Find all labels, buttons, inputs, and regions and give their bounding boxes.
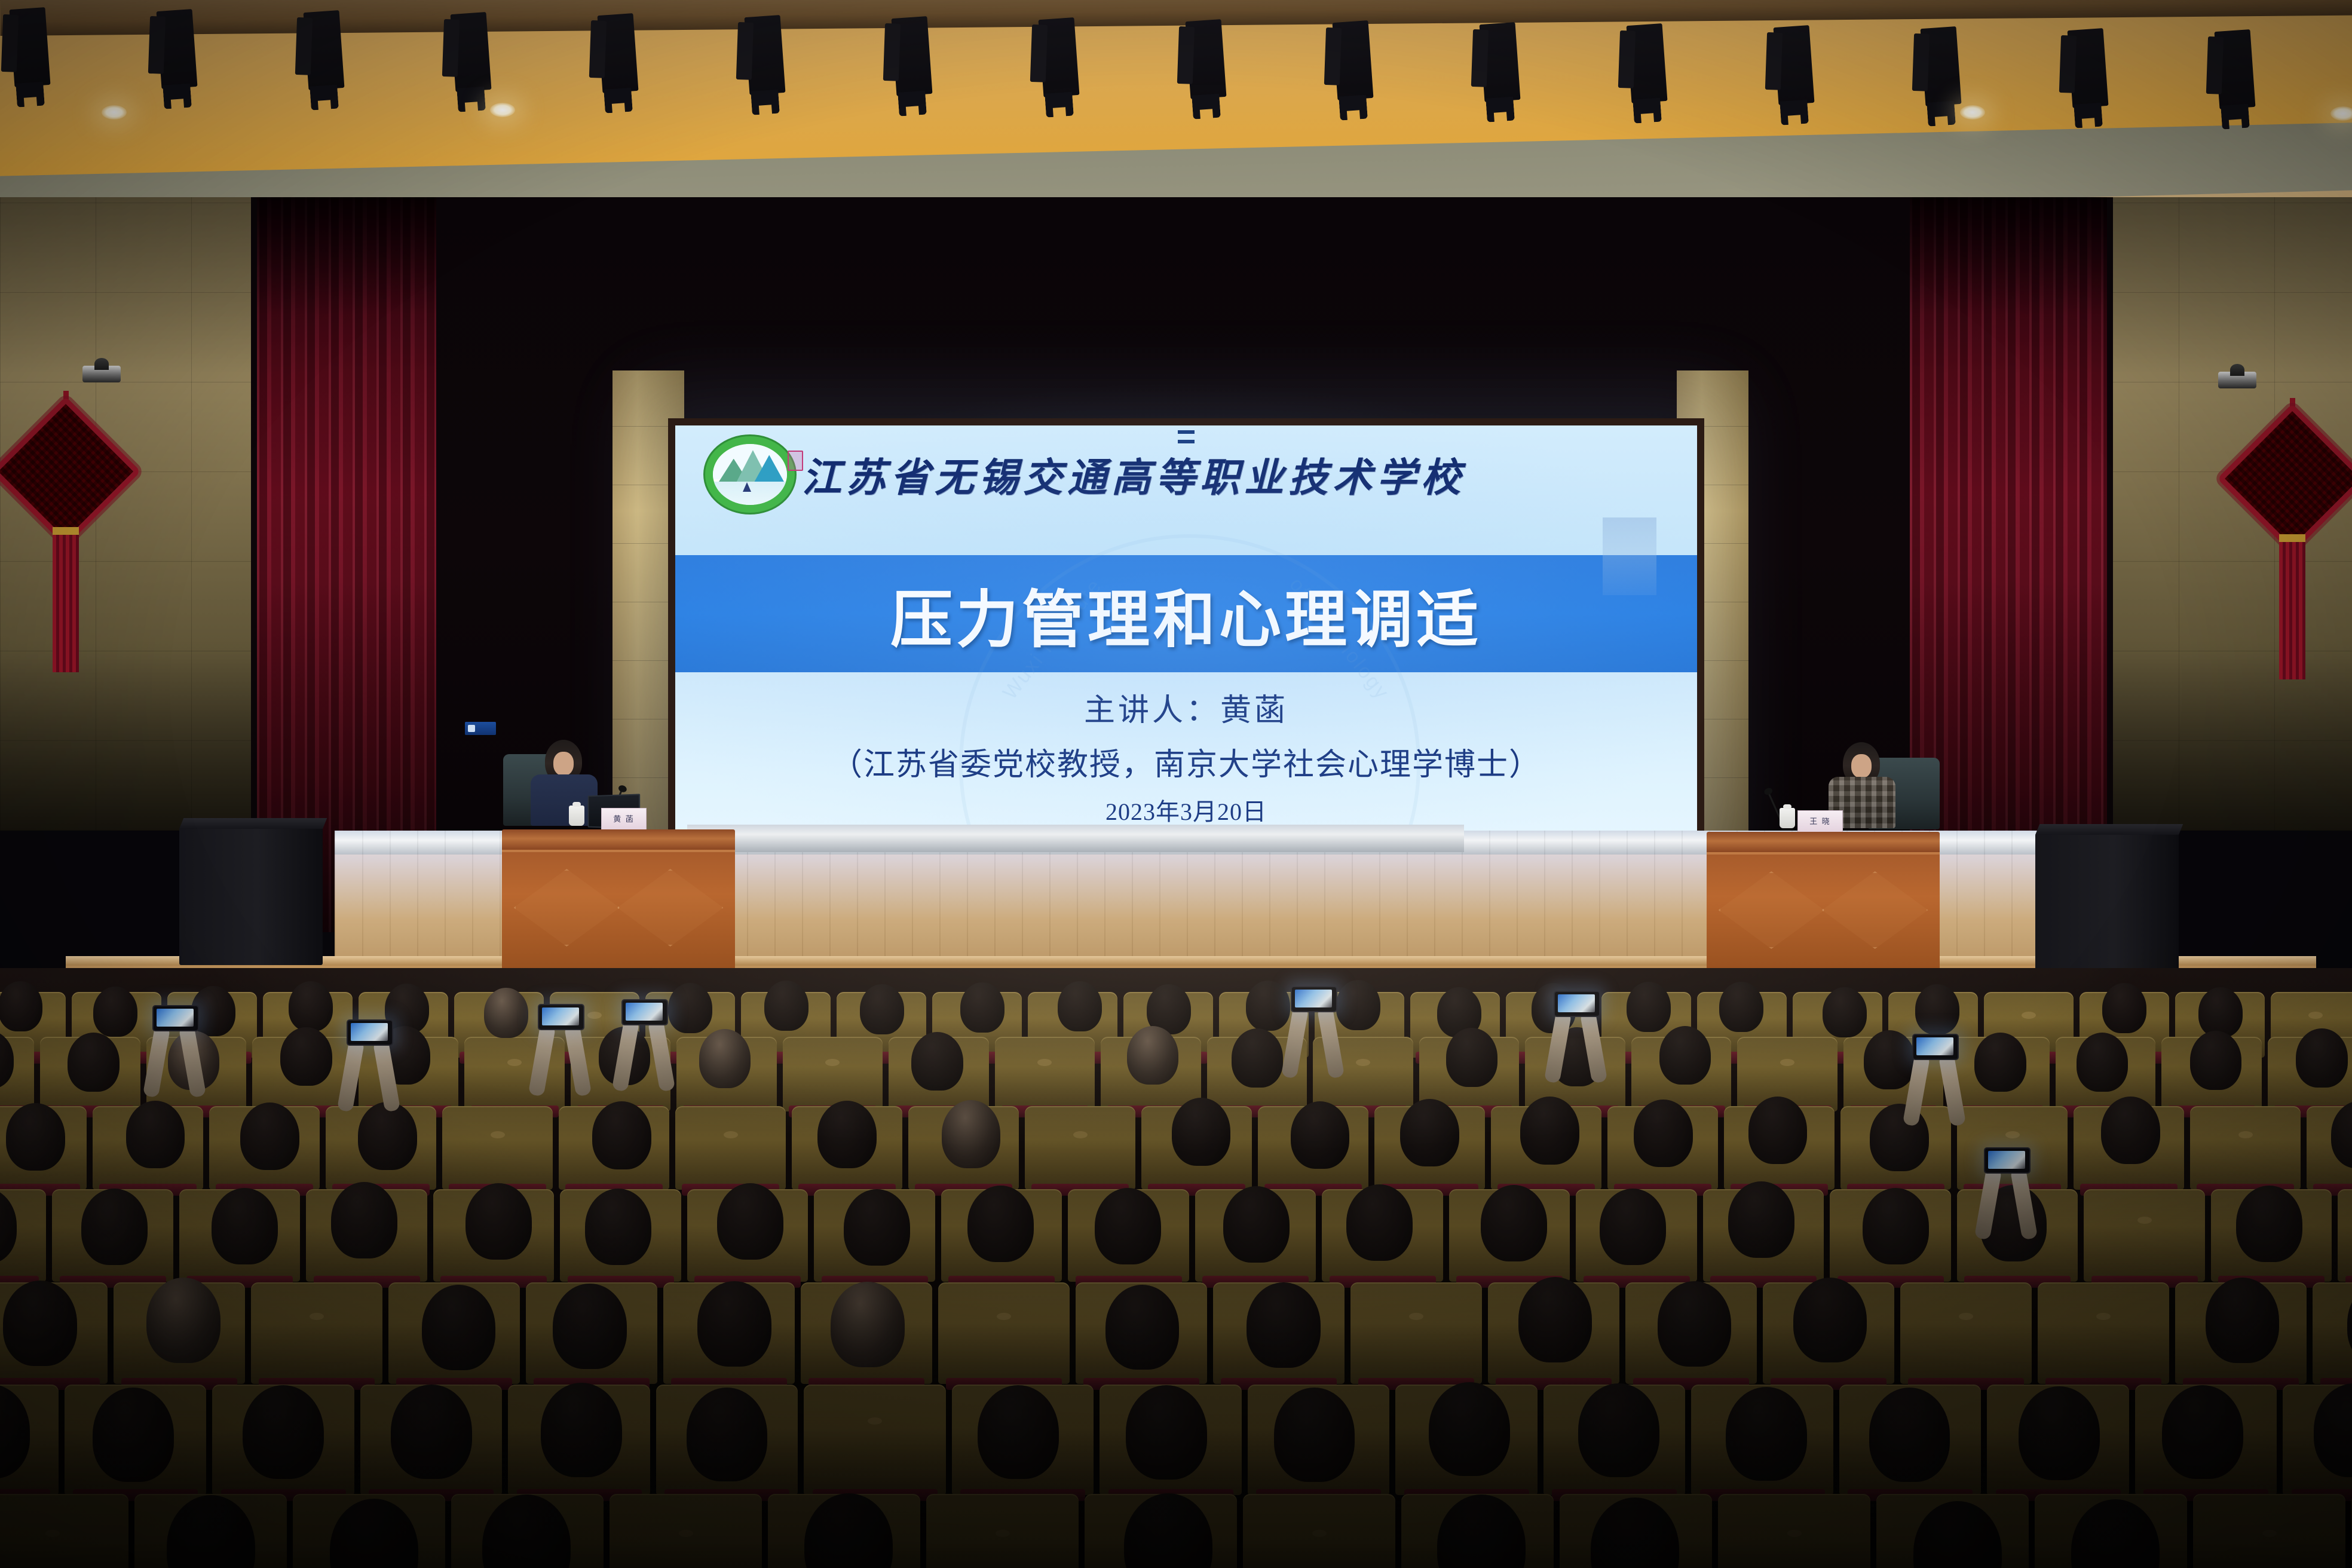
stage-lamp	[598, 13, 639, 93]
audience-member-head	[2019, 1386, 2100, 1480]
projection-screen: Wuxi Institute of Technology of communic…	[675, 425, 1697, 844]
auditorium-seat[interactable]	[804, 1385, 946, 1495]
phone-screen	[1558, 994, 1595, 1012]
stage-apron-edge	[66, 956, 2316, 966]
seat-emblem-icon	[996, 1530, 1010, 1537]
speaker-left	[545, 740, 582, 783]
phone-screen	[1295, 990, 1332, 1007]
logo-sailboat-icon	[743, 482, 751, 492]
audience-member-head	[717, 1183, 783, 1260]
seat-emblem-icon	[2308, 1012, 2323, 1019]
audience-member-head	[422, 1285, 495, 1370]
stage-lamp	[1480, 22, 1521, 102]
audience-member-head	[1520, 1097, 1579, 1164]
audience-member-head	[126, 1101, 185, 1168]
audience-member-head	[1105, 1285, 1179, 1370]
ceiling-downlight	[102, 105, 127, 120]
audience-member-head	[212, 1188, 278, 1264]
audience-member-head	[289, 981, 333, 1031]
phone-screen	[1916, 1037, 1953, 1055]
subwoofer-right	[2035, 834, 2179, 971]
phone-screen	[542, 1007, 579, 1025]
auditorium-seat[interactable]	[783, 1037, 883, 1111]
audience-member-head	[1659, 1026, 1711, 1085]
audience-member-head	[240, 1102, 299, 1170]
desk-right-top	[1707, 832, 1940, 852]
water-cup-left	[569, 806, 584, 826]
auditorium-seat[interactable]	[2190, 1106, 2301, 1190]
audience-member-head	[697, 1281, 771, 1367]
audience-member-head	[391, 1385, 472, 1478]
audience-phone[interactable]	[1554, 991, 1600, 1017]
speaker-right-face	[1851, 754, 1872, 778]
stage-lamp	[1186, 19, 1227, 99]
audience-member-head	[1346, 1184, 1413, 1261]
seat-emblem-icon	[868, 1417, 882, 1425]
stage-lamp	[892, 16, 933, 96]
audience-member-head	[2162, 1385, 2243, 1479]
audience-member-head	[1726, 1387, 1807, 1481]
audience-area	[0, 968, 2352, 1568]
audience-member-head	[1728, 1181, 1794, 1258]
seat-emblem-icon	[2262, 1530, 2277, 1537]
seat-emblem-icon	[1787, 1530, 1802, 1537]
audience-member-head	[942, 1100, 1001, 1168]
auditorium-seat[interactable]	[926, 1494, 1079, 1568]
seat-emblem-icon	[2022, 1012, 2036, 1019]
audience-member-head	[1126, 1385, 1207, 1479]
stage-lamp	[1774, 25, 1815, 105]
auditorium-seat[interactable]	[938, 1282, 1070, 1384]
audience-member-head	[585, 1189, 651, 1265]
audience-member-head	[1247, 1282, 1320, 1368]
audience-member-head	[2077, 1033, 2128, 1092]
chinese-knot-left	[6, 418, 125, 525]
chinese-knot-right	[2232, 425, 2352, 532]
slide-decor-mark-top	[1178, 430, 1195, 434]
seat-emblem-icon	[825, 1059, 840, 1066]
auditorium-seat[interactable]	[251, 1282, 382, 1384]
audience-member-head	[68, 1033, 119, 1092]
stage-lamp	[451, 12, 492, 92]
audience-member-head	[81, 1189, 148, 1265]
phone-screen	[157, 1009, 194, 1027]
desk-left-body	[502, 850, 735, 972]
audience-member-head	[146, 1278, 220, 1363]
audience-member-head	[1429, 1382, 1510, 1476]
audience-member-head	[1864, 1030, 1915, 1089]
audience-member-head	[2102, 983, 2146, 1033]
exit-sign	[465, 722, 496, 735]
audience-member-head	[1578, 1383, 1659, 1477]
seat-emblem-icon	[491, 1131, 505, 1138]
stage-lamp	[1627, 23, 1668, 103]
audience-member-head	[2236, 1186, 2302, 1262]
seat-emblem-icon	[1409, 1313, 1423, 1320]
audience-member-head	[1863, 1188, 1929, 1264]
audience-member-head	[960, 982, 1004, 1033]
phone-screen	[1988, 1151, 2025, 1169]
audience-member-head	[1600, 1189, 1666, 1265]
stage-lamp	[1039, 17, 1080, 97]
audience-member-head	[93, 987, 137, 1037]
subwoofer-left	[179, 828, 323, 965]
audience-member-head	[1823, 987, 1867, 1037]
audience-member-head	[2101, 1097, 2160, 1164]
auditorium-seat[interactable]	[1900, 1282, 2032, 1384]
slide-presenter: 主讲人：黄菡	[675, 685, 1697, 730]
audience-member-head	[817, 1101, 877, 1168]
desk-left	[502, 829, 735, 972]
audience-member-head	[1719, 982, 1763, 1032]
stage-lamp	[2068, 28, 2109, 108]
desk-left-panel-1	[514, 869, 620, 947]
seat-emblem-icon	[2137, 1217, 2152, 1224]
wall-light-fixture-right	[2218, 372, 2256, 388]
seat-emblem-icon	[587, 1012, 602, 1019]
audience-member-head	[243, 1385, 324, 1479]
seat-emblem-icon	[724, 1131, 738, 1138]
slide-school-name: 江苏省无锡交通高等职业技术学校	[802, 446, 1625, 503]
audience-member-head	[1336, 980, 1380, 1030]
audience-member-head	[1748, 1097, 1808, 1164]
audience-member-head	[1974, 1033, 2026, 1092]
auditorium-seat[interactable]	[675, 1106, 786, 1190]
phone-screen	[626, 1003, 663, 1021]
audience-member-head	[978, 1385, 1059, 1479]
ceiling-downlight	[2330, 106, 2352, 121]
knot-tassel-left	[53, 527, 79, 672]
speaker-right	[1843, 742, 1880, 785]
knot-body-left	[0, 396, 141, 547]
seat-emblem-icon	[2005, 1131, 2020, 1138]
school-logo	[705, 436, 795, 513]
water-cup-right	[1780, 808, 1795, 828]
audience-phone[interactable]	[538, 1004, 584, 1030]
audience-member-head	[668, 983, 712, 1033]
audience-phone[interactable]	[621, 999, 668, 1025]
auditorium-seat[interactable]	[2084, 1189, 2205, 1282]
desk-right-panel-2	[1822, 871, 1928, 949]
seat-emblem-icon	[45, 1530, 60, 1537]
audience-member-head	[331, 1182, 397, 1258]
desk-left-top	[502, 829, 735, 850]
slide-main-title: 压力管理和心理调适	[675, 555, 1697, 672]
name-card-left: 黄 菡	[601, 808, 647, 831]
seat-emblem-icon	[1073, 1131, 1088, 1138]
auditorium-seat[interactable]	[1718, 1494, 1870, 1568]
name-card-left-text: 黄 菡	[602, 808, 646, 830]
audience-member-head	[465, 1183, 532, 1260]
audience-member-head	[967, 1186, 1034, 1262]
desk-left-panel-2	[617, 869, 724, 947]
seat-emblem-icon	[679, 1530, 693, 1537]
seat-emblem-icon	[310, 1313, 324, 1320]
seat-emblem-icon	[507, 1059, 522, 1066]
audience-member-head	[2206, 1278, 2279, 1363]
audience-member-head	[699, 1029, 751, 1088]
audience-member-head	[541, 1383, 622, 1477]
audience-member-head	[3, 1281, 76, 1366]
ceiling-downlight	[1960, 105, 1985, 120]
seat-emblem-icon	[1037, 1059, 1052, 1066]
audience-member-head	[2296, 1028, 2347, 1088]
audience-member-head	[1172, 1098, 1231, 1165]
audience-phone[interactable]	[1912, 1034, 1959, 1060]
desk-right	[1707, 832, 1940, 974]
stage-back-riser	[687, 825, 1464, 852]
audience-member-head	[592, 1101, 651, 1169]
auditorium-seat[interactable]	[610, 1494, 762, 1568]
auditorium-seat[interactable]	[2313, 1282, 2352, 1384]
audience-member-head	[1869, 1388, 1950, 1481]
slide-affiliation: （江苏省委党校教授，南京大学社会心理学博士）	[675, 739, 1697, 784]
audience-phone[interactable]	[152, 1005, 199, 1031]
audience-phone[interactable]	[347, 1019, 393, 1046]
wall-light-fixture-left	[82, 366, 121, 382]
ceiling-downlight	[490, 103, 515, 117]
audience-member-head	[1481, 1185, 1547, 1261]
audience-member-head	[1518, 1277, 1592, 1362]
audience-member-head	[2198, 987, 2243, 1037]
audience-member-head	[1274, 1388, 1355, 1481]
auditorium-seat[interactable]	[2193, 1494, 2345, 1568]
audience-member-head	[1658, 1281, 1731, 1367]
audience-member-head	[1246, 981, 1290, 1031]
auditorium-seat[interactable]	[1025, 1106, 1135, 1190]
audience-phone[interactable]	[1984, 1147, 2031, 1174]
seat-emblem-icon	[997, 1313, 1011, 1320]
audience-member-head	[1127, 1026, 1178, 1085]
seat-emblem-icon	[1356, 1059, 1370, 1066]
audience-member-head	[2190, 1031, 2241, 1090]
seat-emblem-icon	[1959, 1313, 1973, 1320]
auditorium-seat[interactable]	[995, 1037, 1095, 1111]
slide-decor-mark-bottom	[1178, 440, 1195, 443]
seat-emblem-icon	[2096, 1313, 2111, 1320]
audience-member-head	[0, 981, 42, 1031]
audience-member-head	[844, 1189, 910, 1266]
auditorium-scene: Wuxi Institute of Technology of communic…	[0, 0, 2352, 1568]
audience-member-head	[1291, 1101, 1350, 1169]
audience-member-head	[1793, 1278, 1867, 1363]
audience-member-head	[1446, 1028, 1497, 1087]
audience-member-head	[831, 1282, 904, 1367]
audience-member-head	[1915, 984, 1959, 1034]
projection-screen-frame: Wuxi Institute of Technology of communic…	[668, 418, 1704, 851]
knot-body-right	[2217, 403, 2352, 554]
stage-lamp	[304, 10, 345, 90]
desk-right-body	[1707, 852, 1940, 974]
audience-member-head	[553, 1284, 626, 1369]
auditorium-seat[interactable]	[442, 1106, 553, 1190]
slide-date: 2023年3月20日	[675, 792, 1697, 827]
calligraphy-seal-icon	[788, 451, 803, 471]
stage-lamp	[157, 9, 198, 89]
stage-lamp	[1921, 26, 1962, 106]
audience-member-head	[687, 1388, 768, 1481]
audience-member-head	[860, 984, 904, 1034]
slide-subtitle-block: 主讲人：黄菡 （江苏省委党校教授，南京大学社会心理学博士） 2023年3月20日	[675, 685, 1697, 827]
knot-tassel-right	[2279, 534, 2305, 679]
name-card-right: 王 晓	[1797, 810, 1843, 833]
audience-member-head	[93, 1388, 174, 1481]
audience-member-head	[1634, 1100, 1693, 1167]
name-card-right-text: 王 晓	[1798, 811, 1842, 832]
audience-member-head	[1400, 1099, 1459, 1166]
audience-member-head	[6, 1103, 65, 1171]
audience-phone[interactable]	[1291, 986, 1337, 1012]
audience-member-head	[1627, 982, 1671, 1032]
auditorium-seat[interactable]	[1243, 1494, 1395, 1568]
audience-member-head	[911, 1032, 963, 1091]
stage-lamp	[2215, 29, 2256, 109]
audience-member-head	[764, 981, 808, 1031]
stage-lamp	[745, 15, 786, 95]
audience-member-head	[1058, 981, 1102, 1031]
audience-member-head	[1232, 1028, 1283, 1088]
desk-right-panel-1	[1719, 871, 1825, 949]
auditorium-seat[interactable]	[2038, 1282, 2169, 1384]
auditorium-seat[interactable]	[1350, 1282, 1482, 1384]
audience-member-head	[1095, 1188, 1161, 1264]
stage-lamp	[10, 7, 51, 87]
audience-member-head	[358, 1102, 417, 1169]
stage-lamp	[1333, 20, 1374, 100]
seat-emblem-icon	[2238, 1131, 2253, 1138]
audience-member-head	[1223, 1186, 1290, 1263]
auditorium-seat[interactable]	[0, 1494, 128, 1568]
phone-screen	[351, 1023, 388, 1041]
audience-member-head	[280, 1027, 332, 1086]
seat-emblem-icon	[1780, 1059, 1794, 1066]
audience-member-head	[484, 988, 528, 1038]
seat-emblem-icon	[1312, 1530, 1327, 1537]
speaker-left-face	[553, 752, 574, 776]
auditorium-seat[interactable]	[2338, 1189, 2352, 1282]
logo-oval-ring	[705, 436, 795, 513]
